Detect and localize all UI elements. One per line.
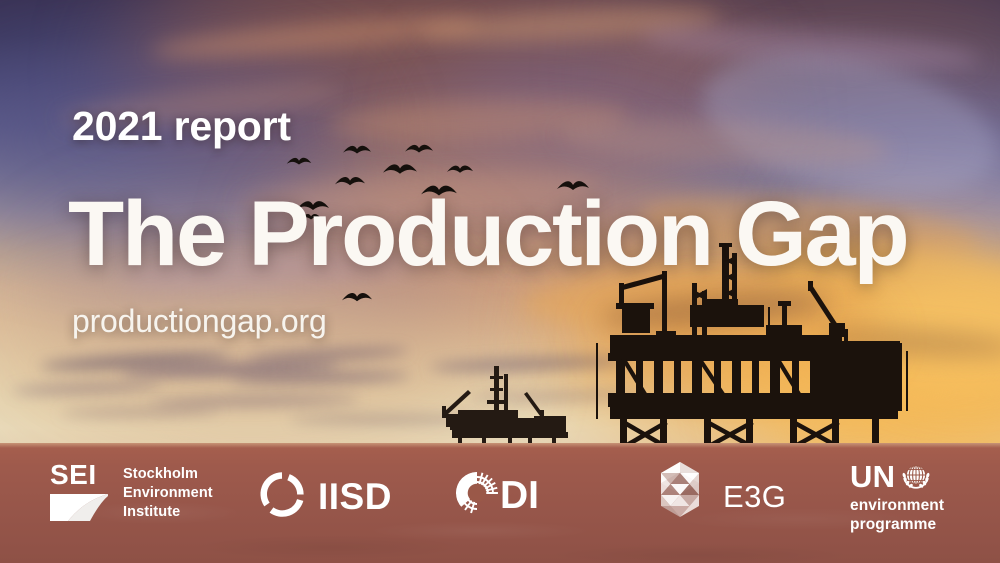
logo-iisd[interactable]: IISD: [259, 471, 392, 522]
odi-radial-circle-icon: [455, 471, 499, 520]
iisd-abbreviation: IISD: [318, 476, 392, 518]
report-year-label: 2021 report: [72, 103, 291, 150]
sei-mark: SEI: [50, 462, 112, 527]
horizon-line: [0, 443, 1000, 448]
iisd-ring-icon: [259, 471, 305, 522]
un-name-line: environment: [850, 497, 944, 516]
sei-name-line: Environment: [123, 484, 213, 503]
un-name-line: programme: [850, 516, 944, 535]
sei-name-line: Stockholm: [123, 465, 213, 484]
logo-un-environment-programme[interactable]: UN: [850, 459, 944, 535]
sei-name-line: Institute: [123, 503, 213, 522]
page-title: The Production Gap: [68, 188, 908, 280]
report-cover-image: 2021 report The Production Gap productio…: [0, 0, 1000, 563]
un-top-row: UN: [850, 459, 931, 495]
un-abbreviation: UN: [850, 459, 895, 495]
logo-e3g[interactable]: E3G: [651, 462, 786, 531]
logo-sei[interactable]: SEI Stockholm Environment Institute: [50, 462, 213, 527]
e3g-hexagon-icon: [651, 462, 709, 531]
logo-odi[interactable]: DI: [455, 471, 539, 520]
sei-full-name: Stockholm Environment Institute: [123, 462, 213, 522]
un-emblem-icon: [901, 460, 931, 495]
sei-sail-icon: [50, 492, 112, 527]
website-url[interactable]: productiongap.org: [72, 303, 327, 340]
un-full-name: environment programme: [850, 497, 944, 535]
sei-abbreviation: SEI: [50, 462, 112, 489]
e3g-abbreviation: E3G: [723, 479, 786, 515]
odi-abbreviation: DI: [500, 474, 539, 518]
